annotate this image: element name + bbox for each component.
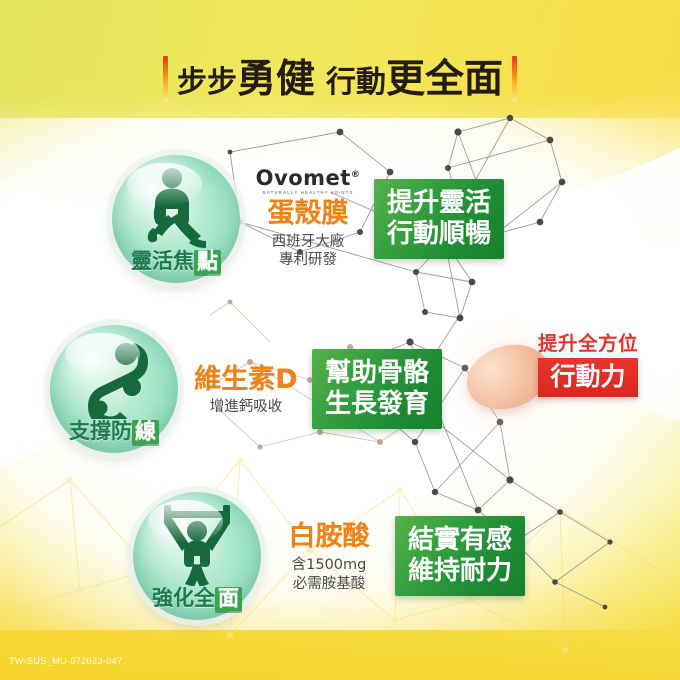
title-accent-bar-right	[512, 56, 517, 102]
note-line-1: 西班牙大廠	[272, 234, 345, 250]
overall-mobility-highlight: 提升全方位 行動力	[538, 333, 638, 397]
badge-label-highlight: 點	[194, 250, 221, 274]
feature-badge-label-flexibility: 靈活焦點	[112, 250, 240, 274]
feature-ingredient-note-vitamin-d: 增進鈣吸收	[192, 398, 300, 417]
title-accent-bar-left	[163, 56, 168, 102]
benefit-line-1: 結實有感	[408, 525, 512, 556]
title-part-1: 步步	[177, 65, 237, 100]
feature-ingredient-note-eggshell: 西班牙大廠專利研發	[254, 233, 362, 271]
feature-ingredient-block-vitamin-d: 維生素D 增進鈣吸收	[192, 361, 300, 417]
feature-benefit-callout-flexibility: 提升靈活 行動順暢	[374, 179, 504, 259]
feature-ingredient-block-leucine: 白胺酸 含1500mg必需胺基酸	[275, 518, 383, 593]
registered-mark-icon: ®	[351, 170, 361, 180]
ovomet-logo-name: Ovomet	[256, 166, 351, 190]
highlight-top-text: 提升全方位	[538, 333, 638, 354]
feature-ingredient-name-vitamin-d: 維生素D	[192, 366, 300, 394]
benefit-line-1: 提升靈活	[387, 188, 491, 219]
ovomet-tagline: NATURALLY HEALTHY JOINTS	[254, 191, 362, 195]
feature-badge-flexibility: 靈活焦點	[112, 155, 240, 283]
poster-canvas: 步步勇健行動更全面 靈活焦點	[0, 0, 680, 680]
title-part-3: 行動	[326, 65, 386, 100]
feature-ingredient-name-leucine: 白胺酸	[275, 523, 383, 551]
benefit-line-2: 行動順暢	[387, 219, 491, 250]
badge-label-highlight: 面	[215, 587, 242, 611]
ovomet-logo: Ovomet®	[254, 168, 362, 189]
benefit-line-2: 維持耐力	[408, 556, 512, 587]
note-line-2: 專利研發	[279, 252, 337, 268]
weightlifter-icon	[133, 504, 261, 586]
title-text: 步步勇健行動更全面	[177, 60, 503, 99]
note-line-2: 必需胺基酸	[293, 576, 366, 592]
badge-label-prefix: 強化全	[152, 586, 215, 610]
feature-badge-label-support: 支撐防線	[50, 420, 178, 444]
feature-badge-label-strengthen: 強化全面	[133, 587, 261, 611]
badge-label-highlight: 線	[132, 420, 159, 444]
title-part-2: 勇健	[237, 57, 315, 102]
highlight-boxed-text: 行動力	[538, 358, 638, 397]
title-part-4: 更全面	[386, 57, 503, 102]
badge-label-prefix: 支撐防	[69, 419, 132, 443]
badge-label-prefix: 靈活焦	[131, 249, 194, 273]
feature-benefit-callout-endurance: 結實有感 維持耐力	[395, 516, 525, 596]
feature-row-vitamin-d: 支撐防線 維生素D 增進鈣吸收 幫助骨骼 生長發育	[50, 325, 442, 453]
feature-row-leucine: 強化全面 白胺酸 含1500mg必需胺基酸 結實有感 維持耐力	[133, 492, 525, 620]
feature-ingredient-name-eggshell: 蛋殼膜	[254, 200, 362, 228]
feature-benefit-callout-bone-growth: 幫助骨骼 生長發育	[312, 349, 442, 429]
poster-title: 步步勇健行動更全面	[0, 48, 680, 110]
feature-badge-support: 支撐防線	[50, 325, 178, 453]
note-line-1: 含1500mg	[292, 557, 367, 573]
feature-row-eggshell-membrane: 靈活焦點 Ovomet® NATURALLY HEALTHY JOINTS 蛋殼…	[112, 155, 504, 283]
stretching-person-icon	[112, 167, 240, 249]
feature-ingredient-note-leucine: 含1500mg必需胺基酸	[275, 556, 383, 594]
feature-ingredient-block-eggshell: Ovomet® NATURALLY HEALTHY JOINTS 蛋殼膜 西班牙…	[254, 168, 362, 270]
bone-joint-icon	[50, 337, 178, 419]
footer-reference-code: TW-SUS_MU-072023-047	[9, 656, 122, 666]
benefit-line-1: 幫助骨骼	[325, 358, 429, 389]
benefit-line-2: 生長發育	[325, 389, 429, 420]
feature-badge-strengthen: 強化全面	[133, 492, 261, 620]
